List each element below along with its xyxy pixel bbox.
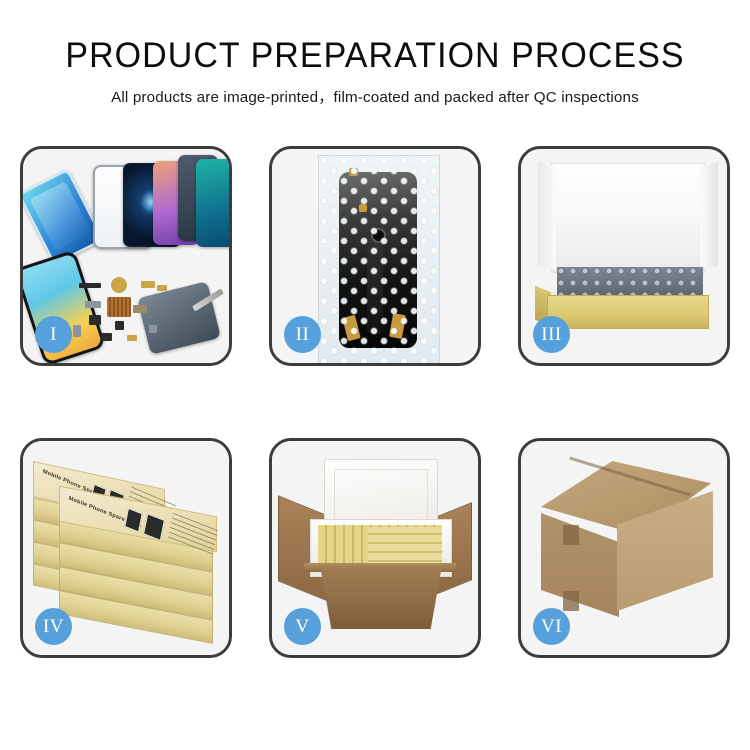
gold-bracket-icon — [141, 281, 155, 288]
teal-phone-icon — [196, 159, 229, 247]
step-badge-4: IV — [35, 608, 72, 645]
gold-clip-icon — [157, 285, 167, 291]
step-badge-3: III — [533, 316, 570, 353]
screw-part-icon — [149, 325, 157, 333]
carton-tape-lower — [563, 591, 579, 611]
carton-left-face — [541, 513, 619, 617]
bubble-bag — [318, 155, 440, 363]
process-step-card-6: VI — [518, 438, 730, 658]
page-subtitle: All products are image-printed，film-coat… — [0, 85, 750, 107]
page-title: PRODUCT PREPARATION PROCESS — [11, 36, 739, 76]
yellow-box-front — [547, 295, 709, 329]
product-preparation-infographic: PRODUCT PREPARATION PROCESS All products… — [0, 0, 750, 750]
bubble-texture — [319, 156, 439, 363]
sim-tray-icon — [73, 325, 81, 337]
pcb-board-icon — [107, 297, 131, 317]
process-step-card-4: Mobile Phone Spare Parts Mobile Phone Sp… — [20, 438, 232, 658]
process-step-grid: I II — [20, 146, 730, 658]
gold-contact-icon — [127, 335, 137, 341]
grey-bubble-padding — [557, 267, 703, 297]
vibrator-part-icon — [79, 283, 101, 288]
process-step-card-1: I — [20, 146, 232, 366]
process-step-card-2: II — [269, 146, 481, 366]
step-badge-6: VI — [533, 608, 570, 645]
carton-tape-upper — [563, 525, 579, 545]
white-foam-sheet — [557, 201, 699, 267]
small-chip-icon — [89, 315, 101, 325]
step-badge-5: V — [284, 608, 321, 645]
process-step-card-3: III — [518, 146, 730, 366]
box-window-front-2 — [143, 513, 165, 541]
header: PRODUCT PREPARATION PROCESS All products… — [0, 36, 750, 107]
camera-module-icon — [101, 333, 112, 341]
blue-screen-icon — [23, 169, 104, 266]
step-badge-1: I — [35, 316, 72, 353]
step-badge-2: II — [284, 316, 321, 353]
speaker-coil-icon — [111, 277, 127, 293]
metal-shield-icon — [85, 301, 101, 308]
process-step-card-5: V — [269, 438, 481, 658]
phone-back-cover-icon — [137, 281, 221, 355]
flex-connector-icon — [133, 305, 147, 313]
ic-chip-icon — [115, 321, 124, 330]
carton-front-face — [312, 567, 450, 629]
